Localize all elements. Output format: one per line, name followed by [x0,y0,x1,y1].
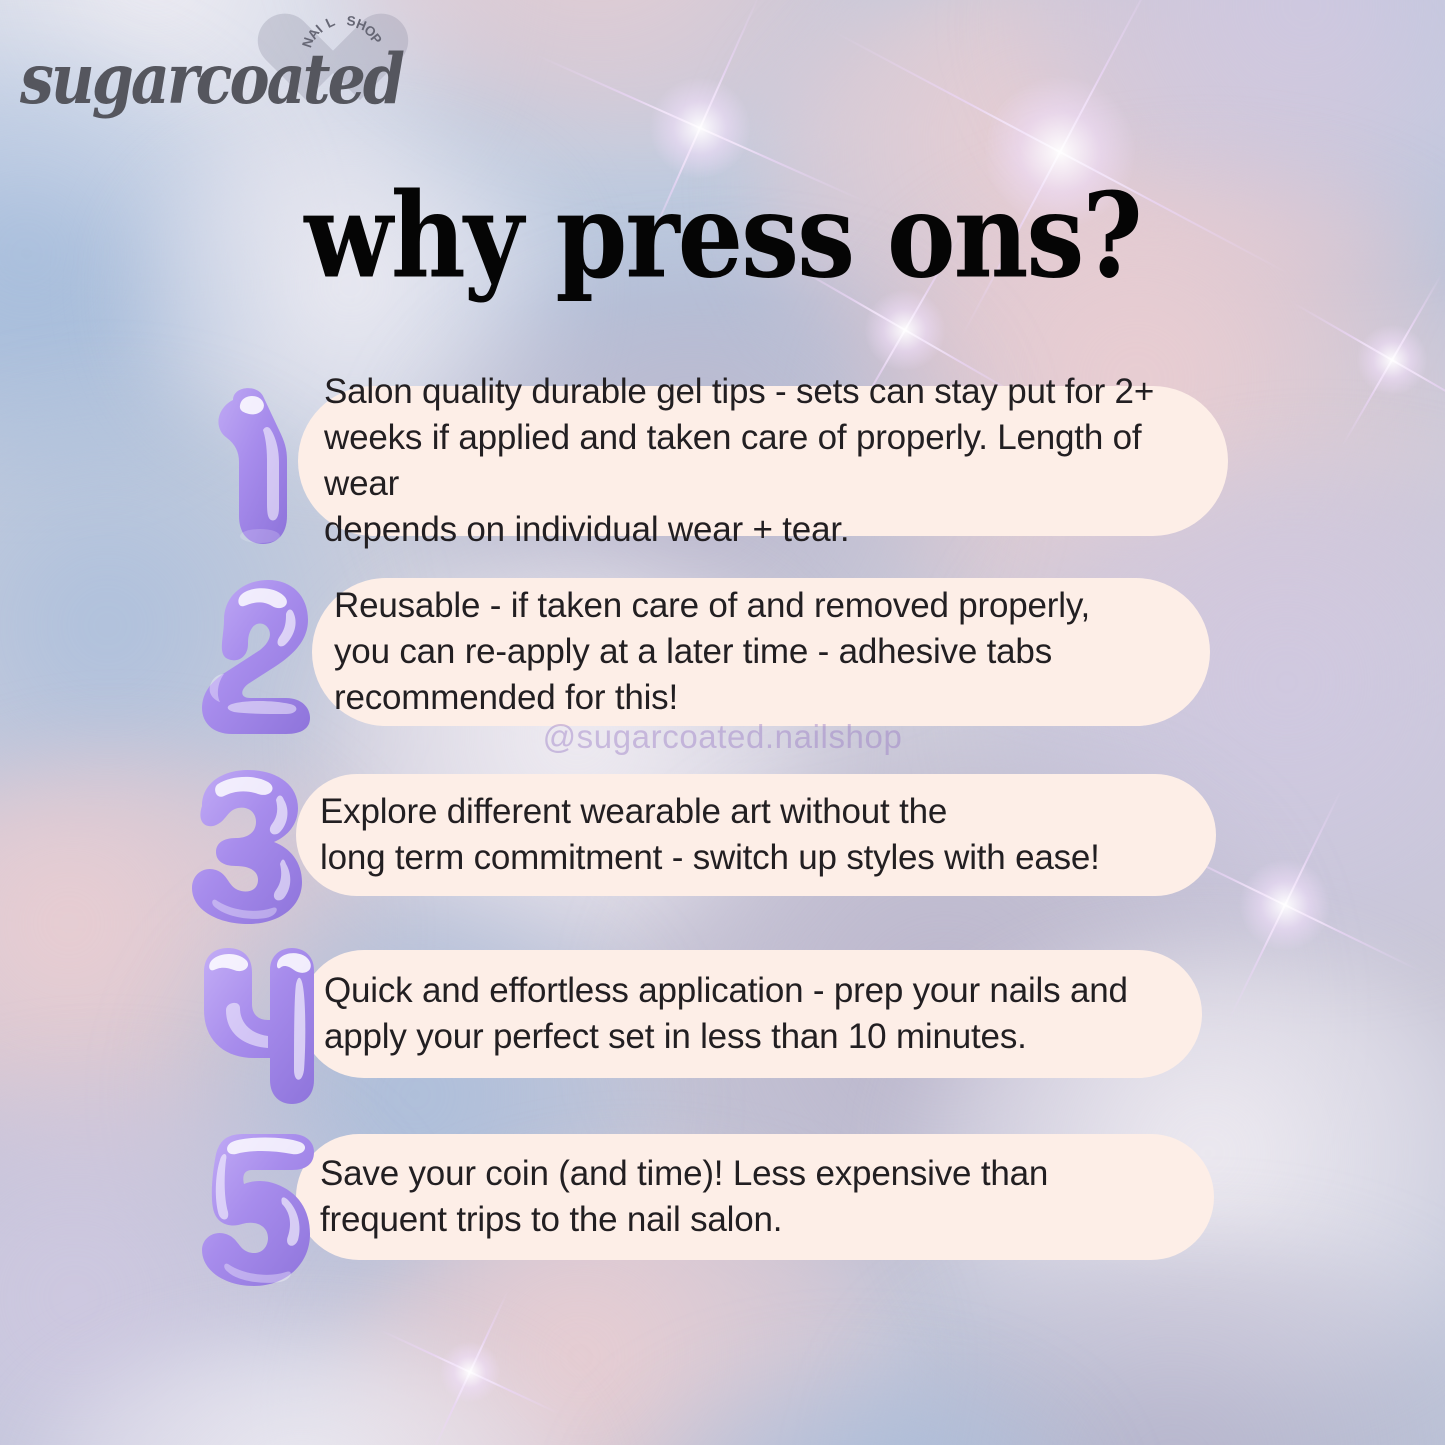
reason-card: Salon quality durable gel tips - sets ca… [298,386,1228,536]
reason-card: Explore different wearable art without t… [296,774,1216,896]
numeral-4-3d [196,948,318,1106]
reason-text: Quick and effortless application - prep … [324,968,1128,1060]
reason-card: Reusable - if taken care of and removed … [312,578,1210,726]
reason-card: Save your coin (and time)! Less expensiv… [296,1134,1214,1260]
reasons-list: Salon quality durable gel tips - sets ca… [0,0,1445,1445]
numeral-2-3d [198,578,318,736]
numeral-3-3d [182,768,310,926]
reason-text: Explore different wearable art without t… [320,789,1100,881]
reason-text: Reusable - if taken care of and removed … [334,583,1090,721]
reason-card: Quick and effortless application - prep … [300,950,1202,1078]
reason-text: Salon quality durable gel tips - sets ca… [324,369,1188,552]
reason-text: Save your coin (and time)! Less expensiv… [320,1151,1048,1243]
